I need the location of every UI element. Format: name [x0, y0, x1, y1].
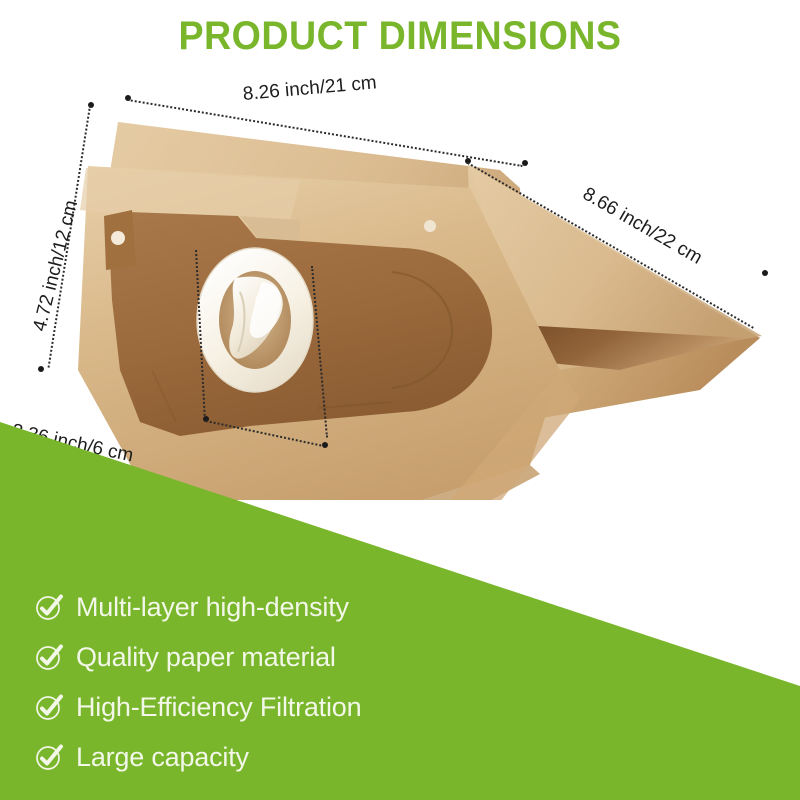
list-item: Multi-layer high-density: [34, 582, 554, 632]
product-photo: 8.26 inch/21 cm 4.72 inch/12 cm 8.66 inc…: [0, 70, 800, 500]
feature-label: Multi-layer high-density: [76, 592, 349, 623]
check-circle-icon: [34, 742, 64, 772]
feature-label: Quality paper material: [76, 642, 336, 673]
check-circle-icon: [34, 592, 64, 622]
dim-endpoint: [522, 160, 528, 166]
check-circle-icon: [34, 642, 64, 672]
dim-endpoint: [38, 366, 44, 372]
feature-label: High-Efficiency Filtration: [76, 692, 361, 723]
dim-endpoint: [322, 442, 328, 448]
list-item: High-Efficiency Filtration: [34, 682, 554, 732]
white-plastic-inlet-ring: [197, 248, 313, 392]
list-item: Quality paper material: [34, 632, 554, 682]
product-dimensions-infographic: PRODUCT DIMENSIONS: [0, 0, 800, 800]
check-circle-icon: [34, 692, 64, 722]
feature-list: Multi-layer high-density Quality paper m…: [34, 582, 554, 782]
hanging-tab-hole: [111, 231, 125, 245]
dim-endpoint: [762, 270, 768, 276]
feature-label: Large capacity: [76, 742, 249, 773]
page-title: PRODUCT DIMENSIONS: [24, 14, 776, 59]
list-item: Large capacity: [34, 732, 554, 782]
